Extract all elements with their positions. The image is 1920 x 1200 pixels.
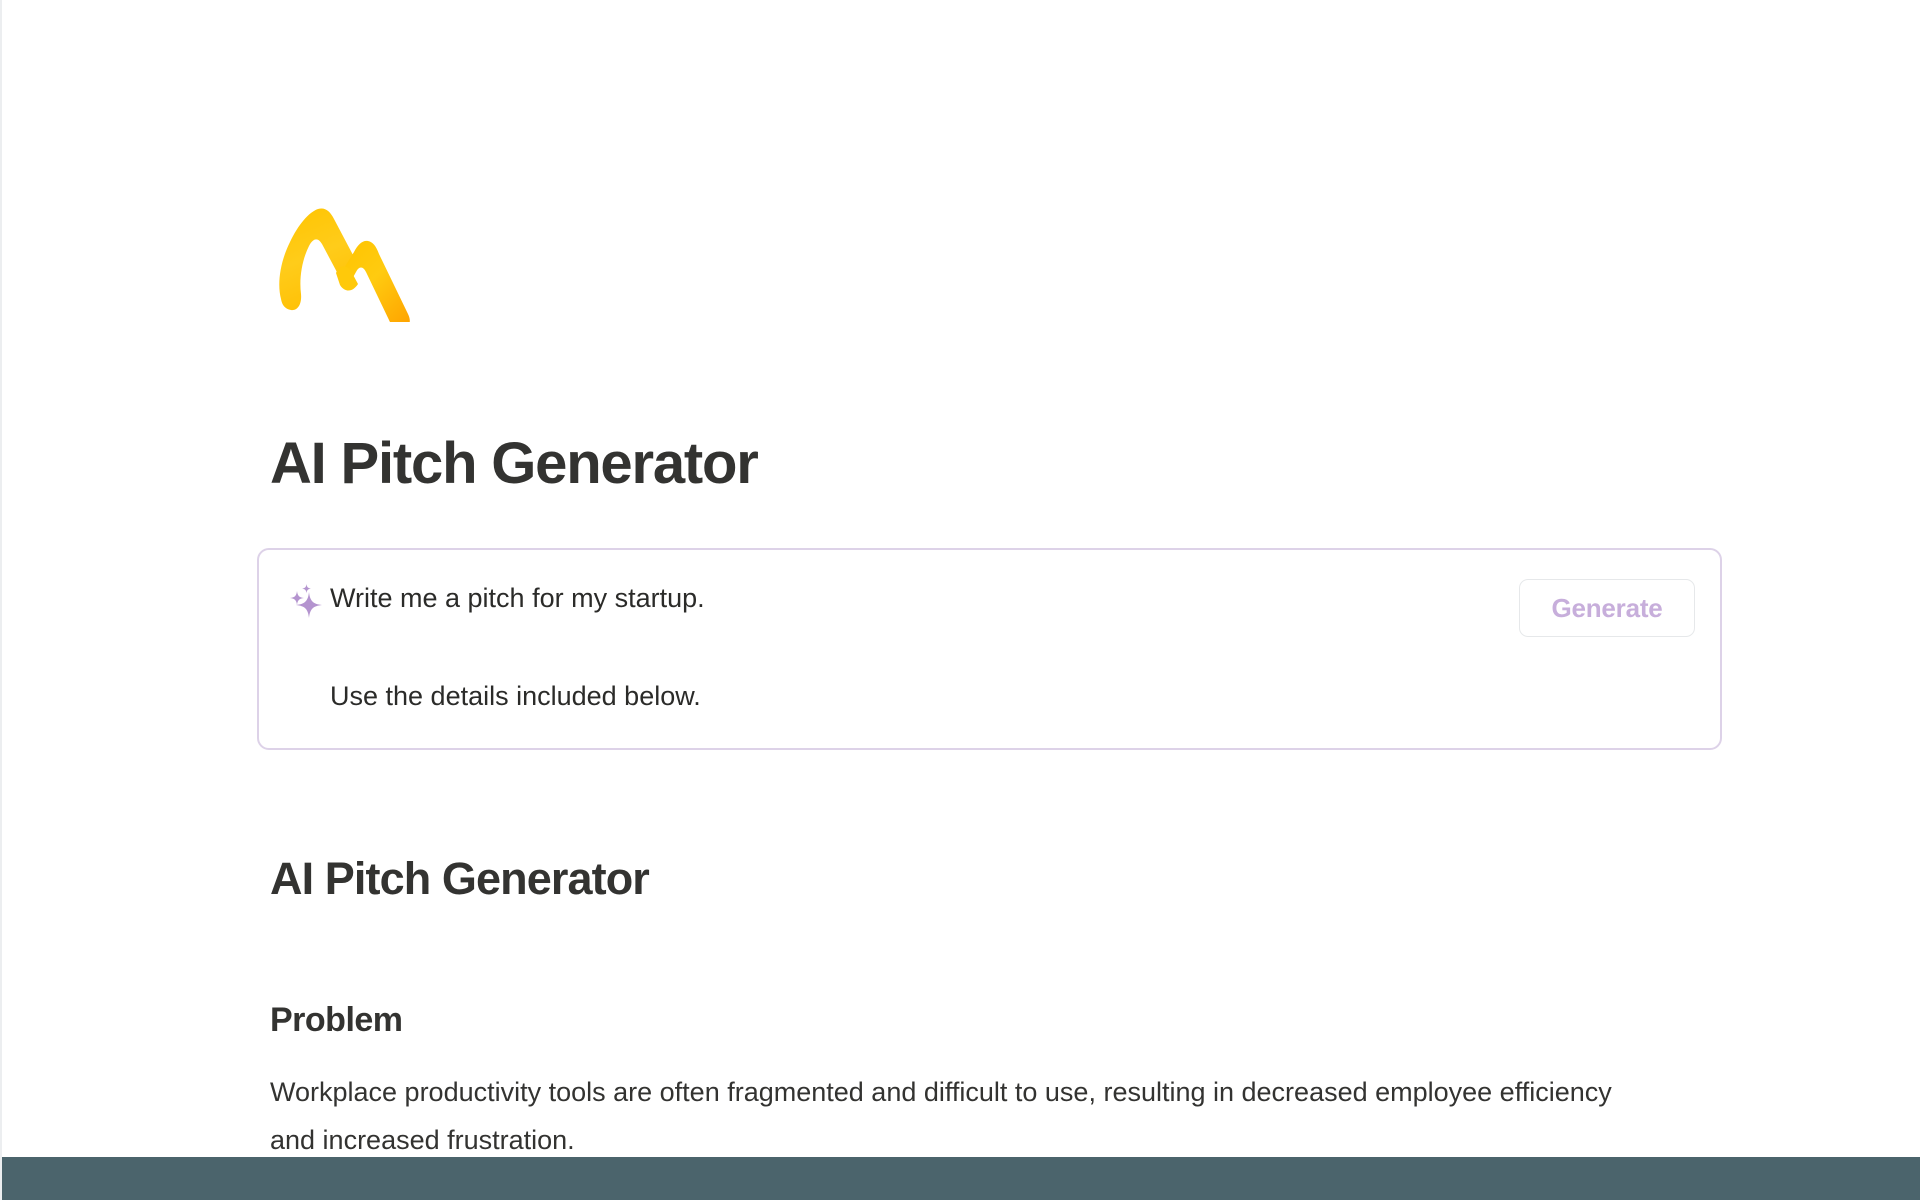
prompt-rows: Write me a pitch for my startup. Use the…	[286, 578, 1720, 722]
document-title: AI Pitch Generator	[270, 853, 649, 905]
prompt-row-1: Write me a pitch for my startup.	[286, 578, 1720, 624]
sparkles-icon	[286, 578, 330, 624]
monday-m-logo-icon	[270, 192, 430, 322]
page-title: AI Pitch Generator	[270, 432, 758, 496]
generate-button[interactable]: Generate	[1519, 579, 1695, 637]
prompt-line-2: Use the details included below.	[330, 676, 701, 714]
app-window: AI Pitch Generator Writ	[0, 0, 1920, 1200]
prompt-panel[interactable]: Write me a pitch for my startup. Use the…	[257, 548, 1722, 750]
section-heading-problem: Problem	[270, 1000, 403, 1041]
prompt-row-2: Use the details included below.	[286, 676, 1720, 722]
bottom-status-bar	[2, 1157, 1920, 1200]
section-body-problem: Workplace productivity tools are often f…	[270, 1068, 1650, 1164]
prompt-line-1: Write me a pitch for my startup.	[330, 578, 705, 616]
